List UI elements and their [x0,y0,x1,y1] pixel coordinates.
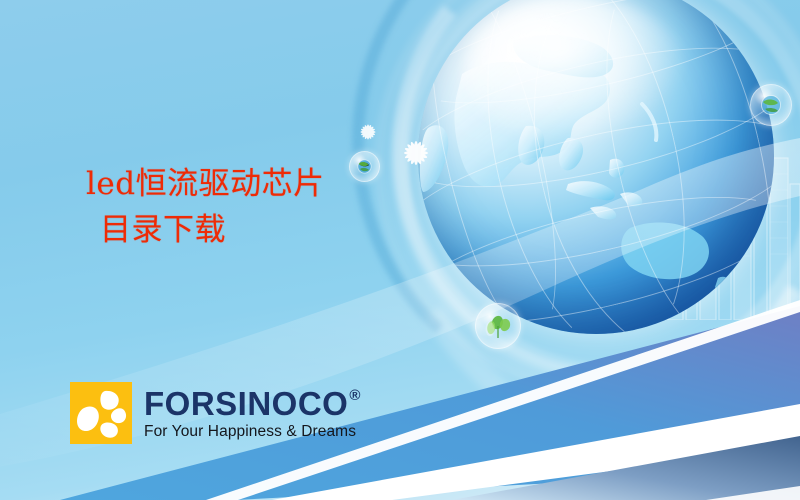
banner-canvas: led恒流驱动芯片 目录下载 FORSINOCO ® [0,0,800,500]
headline-line-1: led恒流驱动芯片 [86,165,325,203]
pinwheel-petals-icon [70,382,132,444]
forsinoco-pinwheel-mark-icon [70,382,132,444]
registered-trademark-symbol: ® [349,388,361,403]
logo-wordmark: FORSINOCO ® [144,387,361,420]
logo-text-block: FORSINOCO ® For Your Happiness & Dreams [144,387,361,440]
logo-wordmark-text: FORSINOCO [144,387,348,420]
logo-tagline: For Your Happiness & Dreams [144,424,361,440]
headline-line-2: 目录下载 [86,211,325,249]
headline-text: led恒流驱动芯片 目录下载 [86,165,325,250]
company-logo[interactable]: FORSINOCO ® For Your Happiness & Dreams [70,382,361,444]
